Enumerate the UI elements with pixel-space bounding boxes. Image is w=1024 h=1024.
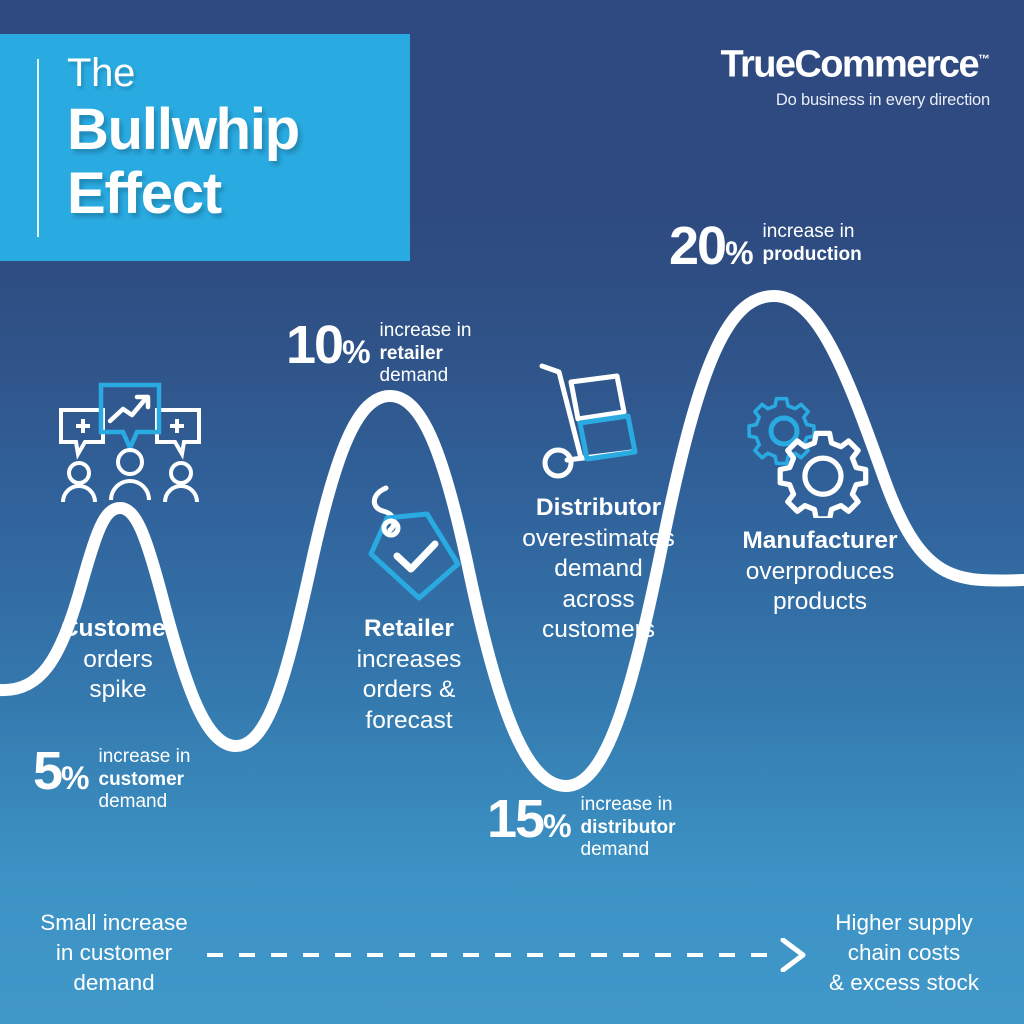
percent-desc-line3: demand <box>380 365 472 388</box>
percent-desc-line1: increase in <box>380 320 472 343</box>
footer-caption-left: Small increasein customerdemand <box>18 908 210 998</box>
percent-desc-emphasis: distributor <box>581 817 676 838</box>
footer-caption-right: Higher supplychain costs& excess stock <box>804 908 1004 998</box>
stage-label-customer: Customer ordersspike <box>26 614 210 706</box>
percent-desc-line1: increase in <box>99 746 191 769</box>
percent-callout-production: 20% increase in production <box>669 219 862 280</box>
logo-wordmark-text: TrueCommerce <box>721 44 978 86</box>
trademark-symbol: ™ <box>978 52 990 66</box>
percent-callout-retailer: 10% increase in retailer demand <box>286 318 471 388</box>
stage-name-manufacturer: Manufacturer <box>723 526 917 557</box>
percent-number: 15 <box>487 789 543 849</box>
title-line-the: The <box>67 48 299 98</box>
percent-number: 5 <box>33 741 61 801</box>
stage-desc-manufacturer: overproducesproducts <box>746 558 894 616</box>
percent-description-distributor: increase in distributor demand <box>581 794 676 862</box>
page-title: The Bullwhip Effect <box>67 48 299 226</box>
percent-symbol: % <box>543 808 570 844</box>
percent-value-retailer: 10% <box>286 318 370 379</box>
percent-symbol: % <box>61 760 88 796</box>
stage-label-manufacturer: Manufacturer overproducesproducts <box>723 526 917 618</box>
stage-desc-customer: ordersspike <box>83 646 152 704</box>
title-block: The Bullwhip Effect <box>0 34 410 261</box>
percent-value-customer: 5% <box>33 744 89 805</box>
title-line-effect: Effect <box>67 162 299 226</box>
percent-number: 10 <box>286 315 342 375</box>
percent-desc-emphasis: production <box>763 244 862 265</box>
stage-name-distributor: Distributor <box>496 493 701 524</box>
percent-number: 20 <box>669 216 725 276</box>
percent-desc-emphasis: customer <box>99 769 185 790</box>
title-line-bullwhip: Bullwhip <box>67 98 299 162</box>
hand-truck-boxes-svg <box>537 360 657 485</box>
percent-desc-line3: demand <box>99 791 191 814</box>
percent-desc-line2: production <box>763 244 862 267</box>
percent-symbol: % <box>342 334 369 370</box>
gears-svg <box>742 390 887 518</box>
dashed-arrow-right-icon <box>205 938 810 972</box>
percent-desc-emphasis: retailer <box>380 343 443 364</box>
title-vertical-rule <box>37 59 39 237</box>
stage-name-retailer: Retailer <box>335 614 483 645</box>
stage-desc-distributor: overestimatesdemandacrosscustomers <box>522 525 675 644</box>
people-feedback-chart-svg <box>55 378 205 503</box>
stage-desc-retailer: increasesorders &forecast <box>357 646 462 734</box>
percent-description-retailer: increase in retailer demand <box>380 320 472 388</box>
gears-icon <box>742 390 887 523</box>
price-tag-check-icon <box>357 478 472 608</box>
percent-value-distributor: 15% <box>487 792 571 853</box>
percent-desc-line1: increase in <box>581 794 676 817</box>
percent-desc-line2: distributor <box>581 817 676 840</box>
truecommerce-logo[interactable]: TrueCommerce™ Do business in every direc… <box>721 38 990 110</box>
percent-desc-line2: customer <box>99 769 191 792</box>
percent-desc-line3: demand <box>581 839 676 862</box>
percent-callout-customer: 5% increase in customer demand <box>33 744 190 814</box>
price-tag-check-svg <box>357 478 472 603</box>
logo-tagline: Do business in every direction <box>721 91 990 110</box>
people-feedback-chart-icon <box>55 378 205 508</box>
percent-callout-distributor: 15% increase in distributor demand <box>487 792 676 862</box>
logo-wordmark: TrueCommerce™ <box>721 38 990 86</box>
percent-description-production: increase in production <box>763 221 862 266</box>
percent-symbol: % <box>725 235 752 271</box>
percent-value-production: 20% <box>669 219 753 280</box>
stage-label-distributor: Distributor overestimatesdemandacrosscus… <box>496 493 701 646</box>
bullwhip-effect-infographic: The Bullwhip Effect TrueCommerce™ Do bus… <box>0 0 1024 1024</box>
hand-truck-boxes-icon <box>537 360 657 490</box>
percent-desc-line2: retailer <box>380 343 472 366</box>
stage-label-retailer: Retailer increasesorders &forecast <box>335 614 483 736</box>
percent-desc-line1: increase in <box>763 221 862 244</box>
stage-name-customer: Customer <box>26 614 210 645</box>
percent-description-customer: increase in customer demand <box>99 746 191 814</box>
